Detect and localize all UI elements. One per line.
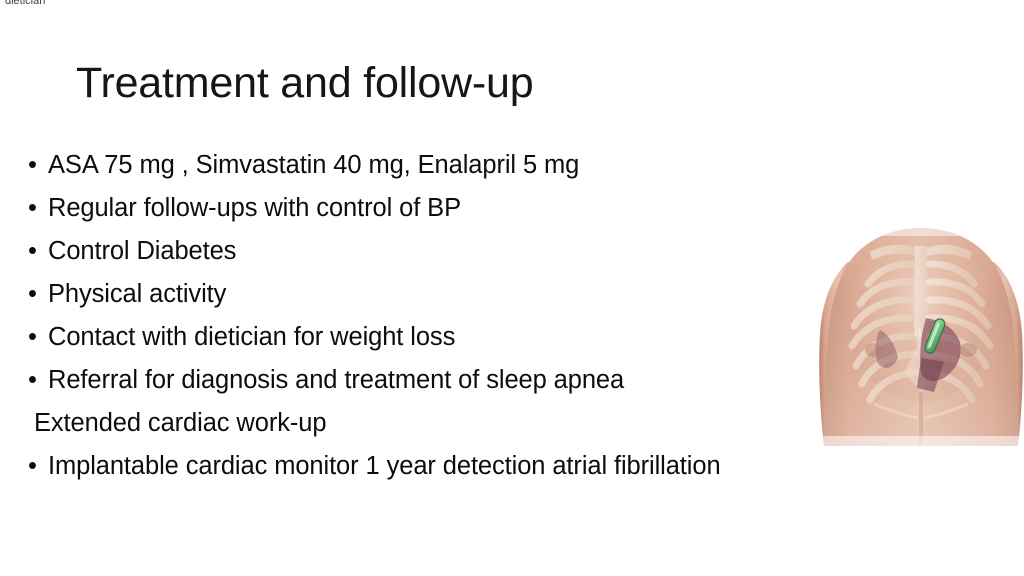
list-item-label: ASA 75 mg , Simvastatin 40 mg, Enalapril… bbox=[48, 151, 579, 179]
page-title: Treatment and follow-up bbox=[76, 57, 533, 109]
bullet-icon: • bbox=[28, 144, 48, 187]
list-item-label: Referral for diagnosis and treatment of … bbox=[48, 366, 624, 394]
torso-anatomy-svg: 4 bbox=[818, 222, 1024, 452]
bullet-icon: • bbox=[28, 187, 48, 230]
list-item: • Control Diabetes bbox=[28, 230, 848, 273]
list-item: • ASA 75 mg , Simvastatin 40 mg, Enalapr… bbox=[28, 144, 848, 187]
list-item: • Physical activity bbox=[28, 273, 848, 316]
list-item-label: Extended cardiac work-up bbox=[34, 409, 326, 437]
bullet-icon: • bbox=[28, 316, 48, 359]
bottom-fade bbox=[818, 436, 1024, 452]
bullet-icon: • bbox=[28, 445, 48, 488]
list-item: • Implantable cardiac monitor 1 year det… bbox=[28, 445, 848, 488]
list-item-label: Regular follow-ups with control of BP bbox=[48, 194, 461, 222]
list-item-label: Implantable cardiac monitor 1 year detec… bbox=[48, 452, 721, 480]
list-item: • Contact with dietician for weight loss bbox=[28, 316, 848, 359]
nipple-left bbox=[865, 343, 883, 357]
list-item-label: Contact with dietician for weight loss bbox=[48, 323, 455, 351]
list-item: • Regular follow-ups with control of BP bbox=[28, 187, 848, 230]
overflow-text-fragment: dietician bbox=[5, 0, 45, 8]
device-callout-label: 4 bbox=[914, 325, 922, 342]
list-item: • Referral for diagnosis and treatment o… bbox=[28, 359, 848, 402]
anatomy-illustration: 4 bbox=[818, 222, 1024, 452]
bullet-list: • ASA 75 mg , Simvastatin 40 mg, Enalapr… bbox=[28, 144, 848, 488]
bullet-icon: • bbox=[28, 273, 48, 316]
list-item-label: Physical activity bbox=[48, 280, 226, 308]
bullet-icon: • bbox=[28, 230, 48, 273]
list-item-label: Control Diabetes bbox=[48, 237, 236, 265]
list-item-continuation: Extended cardiac work-up bbox=[28, 402, 848, 445]
top-fade bbox=[818, 222, 1024, 236]
bullet-icon: • bbox=[28, 359, 48, 402]
nipple-right bbox=[959, 343, 977, 357]
